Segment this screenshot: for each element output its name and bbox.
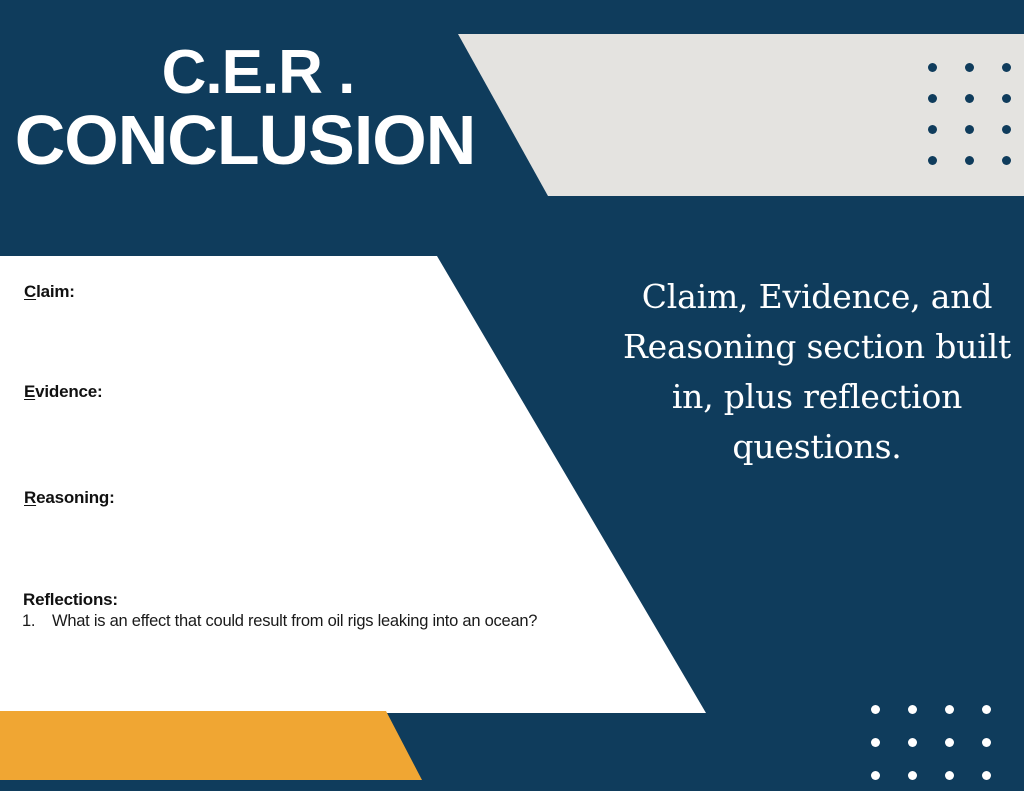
dot <box>982 771 991 780</box>
reflection-number: 1. <box>22 612 52 631</box>
dot <box>928 63 937 72</box>
field-claim-rest: laim: <box>36 282 75 301</box>
dot <box>945 738 954 747</box>
dot <box>965 63 974 72</box>
dot <box>982 738 991 747</box>
dot <box>1002 125 1011 134</box>
page-title: C.E.R . CONCLUSION <box>0 44 500 173</box>
dot <box>908 771 917 780</box>
dot <box>965 94 974 103</box>
field-claim-initial: C <box>24 282 36 301</box>
dot <box>965 156 974 165</box>
dot <box>945 705 954 714</box>
dot <box>928 156 937 165</box>
dot <box>945 771 954 780</box>
dot <box>871 705 880 714</box>
orange-accent-bar <box>0 711 422 780</box>
dot <box>908 705 917 714</box>
title-line-two: CONCLUSION <box>0 107 500 174</box>
dot <box>928 125 937 134</box>
field-label-reasoning: Reasoning: <box>24 488 115 508</box>
reflections-heading: Reflections: <box>23 590 118 610</box>
dot <box>928 94 937 103</box>
dot-grid-bottom-right <box>871 705 1019 791</box>
dot <box>1002 156 1011 165</box>
dot <box>982 705 991 714</box>
caption-text: Claim, Evidence, and Reasoning section b… <box>620 272 1014 473</box>
field-label-evidence: Evidence: <box>24 382 103 402</box>
worksheet-content: Claim: Evidence: Reasoning: Reflections:… <box>0 256 706 713</box>
slide-canvas: C.E.R . CONCLUSION Claim: Evidence: Reas… <box>0 0 1024 791</box>
dot <box>871 738 880 747</box>
field-label-claim: Claim: <box>24 282 75 302</box>
dot <box>1002 63 1011 72</box>
dot-grid-top-right <box>928 63 1024 187</box>
field-evidence-initial: E <box>24 382 35 401</box>
worksheet-panel: Claim: Evidence: Reasoning: Reflections:… <box>0 256 706 713</box>
dot <box>871 771 880 780</box>
field-evidence-rest: vidence: <box>35 382 102 401</box>
dot <box>908 738 917 747</box>
dot <box>1002 94 1011 103</box>
field-reasoning-rest: easoning: <box>36 488 115 507</box>
field-reasoning-initial: R <box>24 488 36 507</box>
dot <box>965 125 974 134</box>
reflection-question-item: 1.What is an effect that could result fr… <box>22 612 537 631</box>
title-line-one: C.E.R . <box>16 44 500 103</box>
reflection-text: What is an effect that could result from… <box>52 612 537 630</box>
